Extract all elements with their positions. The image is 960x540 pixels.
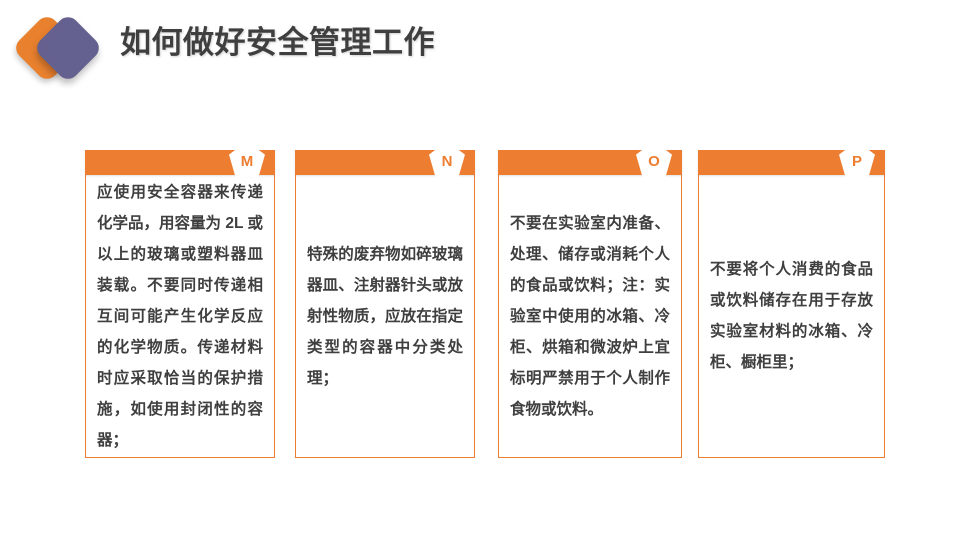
- card-p-badge-letter: P: [852, 149, 862, 169]
- card-o-header: O: [498, 150, 682, 175]
- card-p-text: 不要将个人消费的食品或饮料储存在用于存放实验室材料的冰箱、冷柜、橱柜里；: [699, 250, 884, 382]
- card-m-badge: M: [229, 141, 265, 177]
- card-o-text: 不要在实验室内准备、处理、储存或消耗个人的食品或饮料；注：实验室中使用的冰箱、冷…: [499, 204, 681, 429]
- card-p-badge: P: [839, 141, 875, 177]
- card-n-badge: N: [429, 141, 465, 177]
- card-p: P 不要将个人消费的食品或饮料储存在用于存放实验室材料的冰箱、冷柜、橱柜里；: [698, 150, 885, 458]
- card-n-badge-letter: N: [442, 149, 453, 169]
- card-m-text: 应使用安全容器来传递化学品，用容量为 2L 或以上的玻璃或塑料器皿装载。不要同时…: [86, 173, 274, 460]
- card-o: O 不要在实验室内准备、处理、储存或消耗个人的食品或饮料；注：实验室中使用的冰箱…: [498, 150, 682, 458]
- card-m-body: 应使用安全容器来传递化学品，用容量为 2L 或以上的玻璃或塑料器皿装载。不要同时…: [85, 175, 275, 458]
- card-m: M 应使用安全容器来传递化学品，用容量为 2L 或以上的玻璃或塑料器皿装载。不要…: [85, 150, 275, 458]
- card-n-body: 特殊的废弃物如碎玻璃器皿、注射器针头或放射性物质，应放在指定类型的容器中分类处理…: [295, 175, 475, 458]
- card-o-badge: O: [636, 141, 672, 177]
- cards-row: M 应使用安全容器来传递化学品，用容量为 2L 或以上的玻璃或塑料器皿装载。不要…: [0, 0, 960, 540]
- card-m-badge-letter: M: [241, 149, 254, 169]
- card-n: N 特殊的废弃物如碎玻璃器皿、注射器针头或放射性物质，应放在指定类型的容器中分类…: [295, 150, 475, 458]
- card-o-body: 不要在实验室内准备、处理、储存或消耗个人的食品或饮料；注：实验室中使用的冰箱、冷…: [498, 175, 682, 458]
- card-m-header: M: [85, 150, 275, 175]
- card-n-header: N: [295, 150, 475, 175]
- card-p-body: 不要将个人消费的食品或饮料储存在用于存放实验室材料的冰箱、冷柜、橱柜里；: [698, 175, 885, 458]
- card-o-badge-letter: O: [648, 149, 660, 169]
- card-p-header: P: [698, 150, 885, 175]
- card-n-text: 特殊的废弃物如碎玻璃器皿、注射器针头或放射性物质，应放在指定类型的容器中分类处理…: [296, 235, 474, 398]
